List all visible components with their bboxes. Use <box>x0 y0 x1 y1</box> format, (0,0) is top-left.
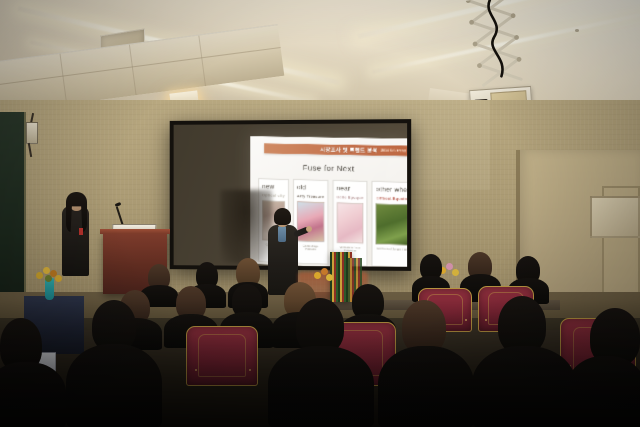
column-caption: Enchanted Jungle Fantasy <box>376 247 407 252</box>
presenter-name-badge <box>79 228 83 235</box>
column-thumbnail-image <box>297 201 324 242</box>
audience-member <box>566 356 640 427</box>
wall-mirror-panel <box>590 196 640 238</box>
column-subtitle: Arty Treasure <box>297 193 324 199</box>
presenter-shadow-on-screen <box>221 190 272 264</box>
soffit-seam <box>60 54 68 105</box>
slide-title-english: 2014 S/S Trend <box>381 148 406 153</box>
wall-speaker <box>26 122 38 144</box>
column-thumbnail-image <box>336 202 363 243</box>
column-subtitle: Belle Epoque <box>336 194 363 200</box>
column-keyword: near <box>336 185 363 193</box>
presenter-scarf <box>278 226 286 242</box>
banquet-chair <box>186 326 258 386</box>
audience-member <box>66 344 162 427</box>
soffit-seam <box>129 45 137 96</box>
presenter-hand <box>306 226 312 232</box>
audience-member <box>268 346 374 427</box>
column-subtitle: Offbeat Equator <box>376 195 407 201</box>
slide-heading: Fuse for Next <box>250 162 407 174</box>
slide-title-korean: 시장조사 및 트렌드 분석 <box>320 146 377 154</box>
presenter-screen-hair <box>274 208 291 225</box>
column-keyword: old <box>297 184 324 192</box>
conference-room-photo: 시장조사 및 트렌드 분석 2014 S/S Trend Fuse for Ne… <box>0 0 640 427</box>
column-caption: Camouflage Vendetta <box>297 244 324 253</box>
slide-title-banner: 시장조사 및 트렌드 분석 2014 S/S Trend <box>264 143 407 156</box>
flower-vase <box>312 268 334 288</box>
ceiling-smoke-detector-icon <box>575 29 579 32</box>
audience-member <box>378 346 474 427</box>
slide-column: other where Offbeat Equator Enchanted Ju… <box>372 181 407 267</box>
soffit-seam <box>198 35 206 86</box>
audience-member <box>0 362 66 427</box>
audience-member <box>472 346 576 427</box>
column-keyword: other where <box>376 186 407 194</box>
podium-top-surface <box>100 229 170 234</box>
chair-frame-inner <box>198 334 246 377</box>
column-thumbnail-image <box>376 203 407 245</box>
slide-column: old Arty Treasure Camouflage Vendetta <box>293 179 328 265</box>
flower-arrangement <box>36 266 64 284</box>
